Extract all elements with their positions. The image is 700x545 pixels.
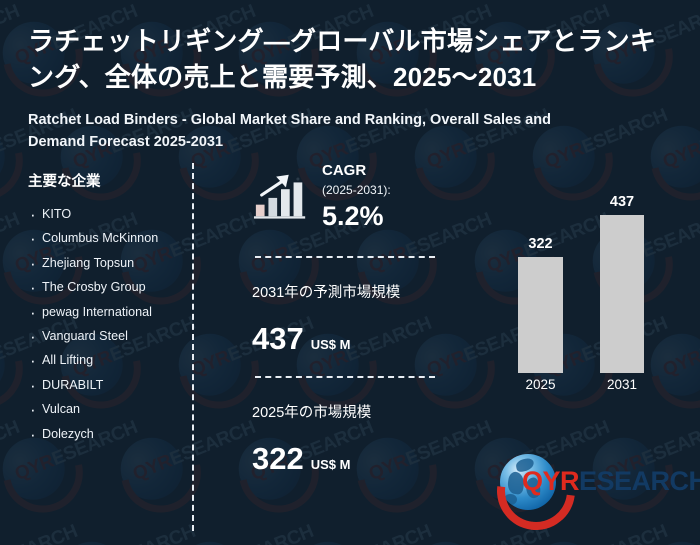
company-list-item: Columbus McKinnon — [28, 229, 178, 249]
watermark-logo: QYRESEARCH — [694, 402, 700, 527]
page-title: ラチェットリギング—グローバル市場シェアとランキング、全体の売上と需要予測、20… — [28, 24, 678, 96]
divider-after-forecast — [255, 376, 435, 378]
current-market-size-label: 2025年の市場規模 — [252, 404, 442, 423]
company-list-item: Zhejiang Topsun — [28, 254, 178, 274]
bar-rect: 3222025 — [518, 257, 563, 373]
forecast-market-size-block: 2031年の予測市場規模 437 US$ M — [252, 284, 442, 354]
forecast-market-size-label: 2031年の予測市場規模 — [252, 284, 442, 303]
current-market-size-block: 2025年の市場規模 322 US$ M — [252, 404, 442, 474]
watermark-logo: QYRESEARCH — [280, 0, 405, 6]
key-companies-heading: 主要な企業 — [28, 170, 178, 191]
page-subtitle: Ratchet Load Binders - Global Market Sha… — [28, 110, 608, 154]
company-list: KITOColumbus McKinnonZhejiang TopsunThe … — [28, 205, 178, 444]
bar-group: 4372031 — [600, 200, 644, 373]
logo-wordmark: QYRESEARCH — [522, 466, 700, 497]
cagr-label: CAGR — [322, 162, 442, 181]
bar-value-label: 437 — [610, 194, 634, 210]
watermark-logo: QYRESEARCH — [694, 0, 700, 110]
watermark-logo: QYRESEARCH — [694, 194, 700, 319]
cagr-period: (2025-2031): — [322, 181, 442, 199]
forecast-market-size-unit: US$ M — [311, 337, 351, 352]
market-infographic: QYRESEARCHQYRESEARCHQYRESEARCHQYRESEARCH… — [0, 0, 700, 545]
bar-value-label: 322 — [528, 236, 552, 252]
bar-category-label: 2031 — [607, 377, 637, 392]
cagr-block: CAGR (2025-2031): 5.2% — [252, 162, 442, 244]
company-list-item: Vanguard Steel — [28, 327, 178, 347]
market-size-bar-chart: 32220254372031 — [480, 200, 680, 395]
watermark-logo: QYRESEARCH — [162, 506, 287, 545]
cagr-value: 5.2% — [322, 200, 442, 232]
current-market-size-row: 322 US$ M — [252, 443, 442, 474]
bar-group: 3222025 — [518, 200, 563, 373]
company-list-item: DURABILT — [28, 376, 178, 396]
header: ラチェットリギング—グローバル市場シェアとランキング、全体の売上と需要予測、20… — [28, 24, 678, 153]
growth-bar-chart-icon — [252, 166, 310, 224]
qyresearch-logo: QYRESEARCH — [500, 452, 680, 514]
company-list-item: The Crosby Group — [28, 278, 178, 298]
bar-category-label: 2025 — [525, 377, 555, 392]
cagr-texts: CAGR (2025-2031): 5.2% — [322, 162, 442, 232]
key-companies-panel: 主要な企業 KITOColumbus McKinnonZhejiang Tops… — [28, 170, 178, 449]
watermark-logo: QYRESEARCH — [398, 0, 523, 6]
watermark-logo: QYRESEARCH — [44, 506, 169, 545]
logo-esearch-text: ESEARCH — [579, 466, 700, 496]
stats-column: CAGR (2025-2031): 5.2% 2031年の予測市場規模 437 … — [252, 162, 442, 474]
divider-after-cagr — [255, 256, 435, 258]
bar-rect: 4372031 — [600, 215, 644, 373]
company-list-item: KITO — [28, 205, 178, 225]
company-list-item: Vulcan — [28, 400, 178, 420]
watermark-logo: QYRESEARCH — [634, 0, 700, 6]
watermark-logo: QYRESEARCH — [0, 506, 50, 545]
company-list-item: Dolezych — [28, 425, 178, 445]
watermark-logo: QYRESEARCH — [516, 0, 641, 6]
logo-qyr-text: QYR — [522, 466, 579, 496]
company-list-item: All Lifting — [28, 351, 178, 371]
vertical-dashed-divider — [192, 163, 194, 531]
watermark-logo: QYRESEARCH — [44, 0, 169, 6]
watermark-logo: QYRESEARCH — [0, 0, 50, 6]
watermark-logo: QYRESEARCH — [162, 0, 287, 6]
current-market-size-unit: US$ M — [311, 457, 351, 472]
watermark-logo: QYRESEARCH — [280, 506, 405, 545]
current-market-size-value: 322 — [252, 443, 304, 474]
forecast-market-size-value: 437 — [252, 323, 304, 354]
company-list-item: pewag International — [28, 303, 178, 323]
forecast-market-size-row: 437 US$ M — [252, 323, 442, 354]
